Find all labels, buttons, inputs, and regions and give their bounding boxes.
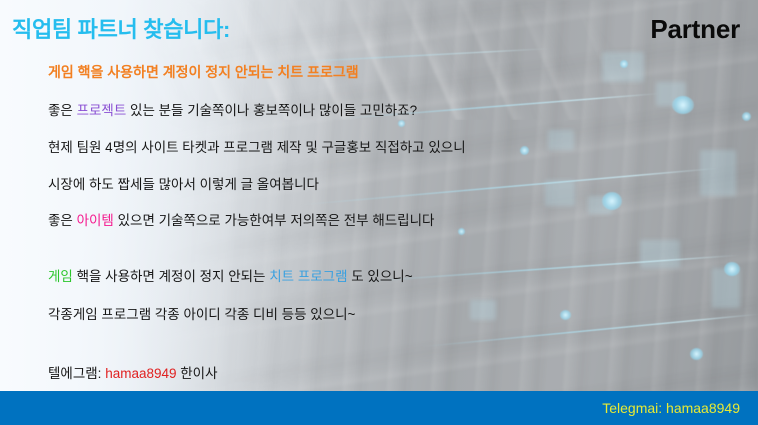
text-segment: 있는 분들 기술쪽이나 홍보쪽이나 많이들 고민하죠? [126,103,417,118]
text-segment: 시장에 하도 짭세들 많아서 이렇게 글 올여봅니다 [48,177,319,192]
text-segment: hamaa8949 [105,366,176,381]
text-segment: 현제 팀원 4명의 사이트 타켓과 프로그램 제작 및 구글홍보 직접하고 있으… [48,140,466,155]
footer-contact-text: Telegmai: hamaa8949 [602,400,740,416]
text-segment: 프로젝트 [77,103,127,118]
text-segment: 핵을 사용하면 계정이 정지 안되는 [73,269,269,284]
text-segment: 아이템 [77,213,114,228]
text-segment: 있으면 기술쪽으로 가능한여부 저의쪽은 전부 해드립니다 [114,213,435,228]
body-line-1: 좋은 프로젝트 있는 분들 기술쪽이나 홍보쪽이나 많이들 고민하죠? [48,99,417,119]
contact-line: 텔에그램: hamaa8949 한이사 [48,362,218,382]
subheadline: 게임 핵을 사용하면 계정이 정지 안되는 치트 프로그램 [48,62,359,82]
promo-banner: 직업팀 파트너 찾습니다: Partner 게임 핵을 사용하면 계정이 정지 … [0,0,758,425]
body-line-3: 시장에 하도 짭세들 많아서 이렇게 글 올여봅니다 [48,173,319,193]
body-line-5: 게임 핵을 사용하면 계정이 정지 안되는 치트 프로그램 도 있으니~ [48,265,413,285]
brand-logo-text: Partner [650,14,740,45]
body-line-4: 좋은 아이템 있으면 기술쪽으로 가능한여부 저의쪽은 전부 해드립니다 [48,209,434,229]
text-segment: 도 있으니~ [348,269,413,284]
text-segment: 한이사 [177,366,218,381]
text-segment: 각종게임 프로그램 각종 아이디 각종 디비 등등 있으니~ [48,307,355,322]
text-segment: 텔에그램: [48,366,105,381]
body-line-2: 현제 팀원 4명의 사이트 타켓과 프로그램 제작 및 구글홍보 직접하고 있으… [48,136,466,156]
text-segment: 좋은 [48,213,77,228]
footer-bar: Telegmai: hamaa8949 [0,391,758,425]
page-title: 직업팀 파트너 찾습니다: [12,12,230,44]
text-segment: 치트 프로그램 [269,269,347,284]
banner-content: 직업팀 파트너 찾습니다: Partner 게임 핵을 사용하면 계정이 정지 … [0,0,758,425]
text-segment: 좋은 [48,103,77,118]
text-segment: 게임 [48,269,73,284]
body-line-6: 각종게임 프로그램 각종 아이디 각종 디비 등등 있으니~ [48,303,355,323]
